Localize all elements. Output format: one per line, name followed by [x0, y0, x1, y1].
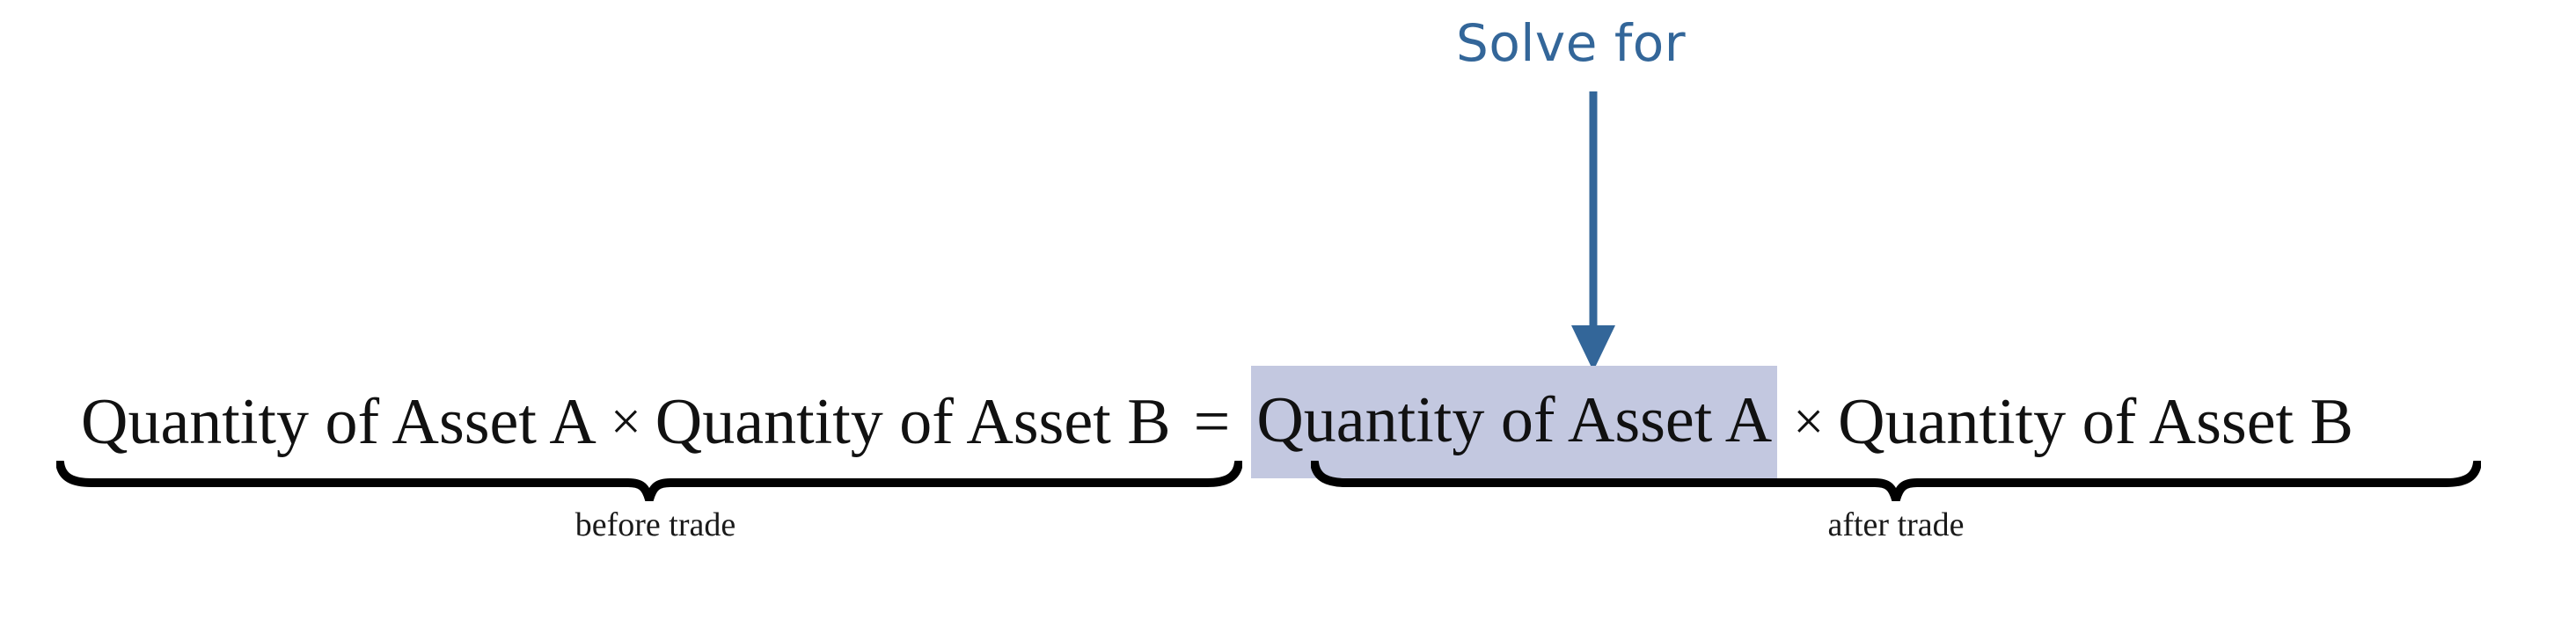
rhs-multiplication-operator: × [1779, 374, 1838, 470]
equation-line: Quantity of Asset A × Quantity of Asset … [0, 374, 2576, 470]
after-trade-brace [1311, 461, 2481, 501]
equals-operator: = [1171, 374, 1250, 470]
solve-for-annotation-label: Solve for [1456, 18, 1686, 69]
before-trade-label: before trade [479, 508, 831, 542]
down-arrow-icon [1550, 91, 1656, 378]
lhs-factor-1: Quantity of Asset A [81, 374, 596, 470]
before-trade-brace [56, 461, 1242, 501]
diagram-canvas: Solve for Quantity of Asset A × Quantity… [0, 0, 2576, 619]
rhs-factor-2: Quantity of Asset B [1838, 374, 2353, 470]
after-trade-label: after trade [1720, 508, 2072, 542]
lhs-multiplication-operator: × [596, 374, 655, 470]
lhs-factor-2: Quantity of Asset B [655, 374, 1171, 470]
